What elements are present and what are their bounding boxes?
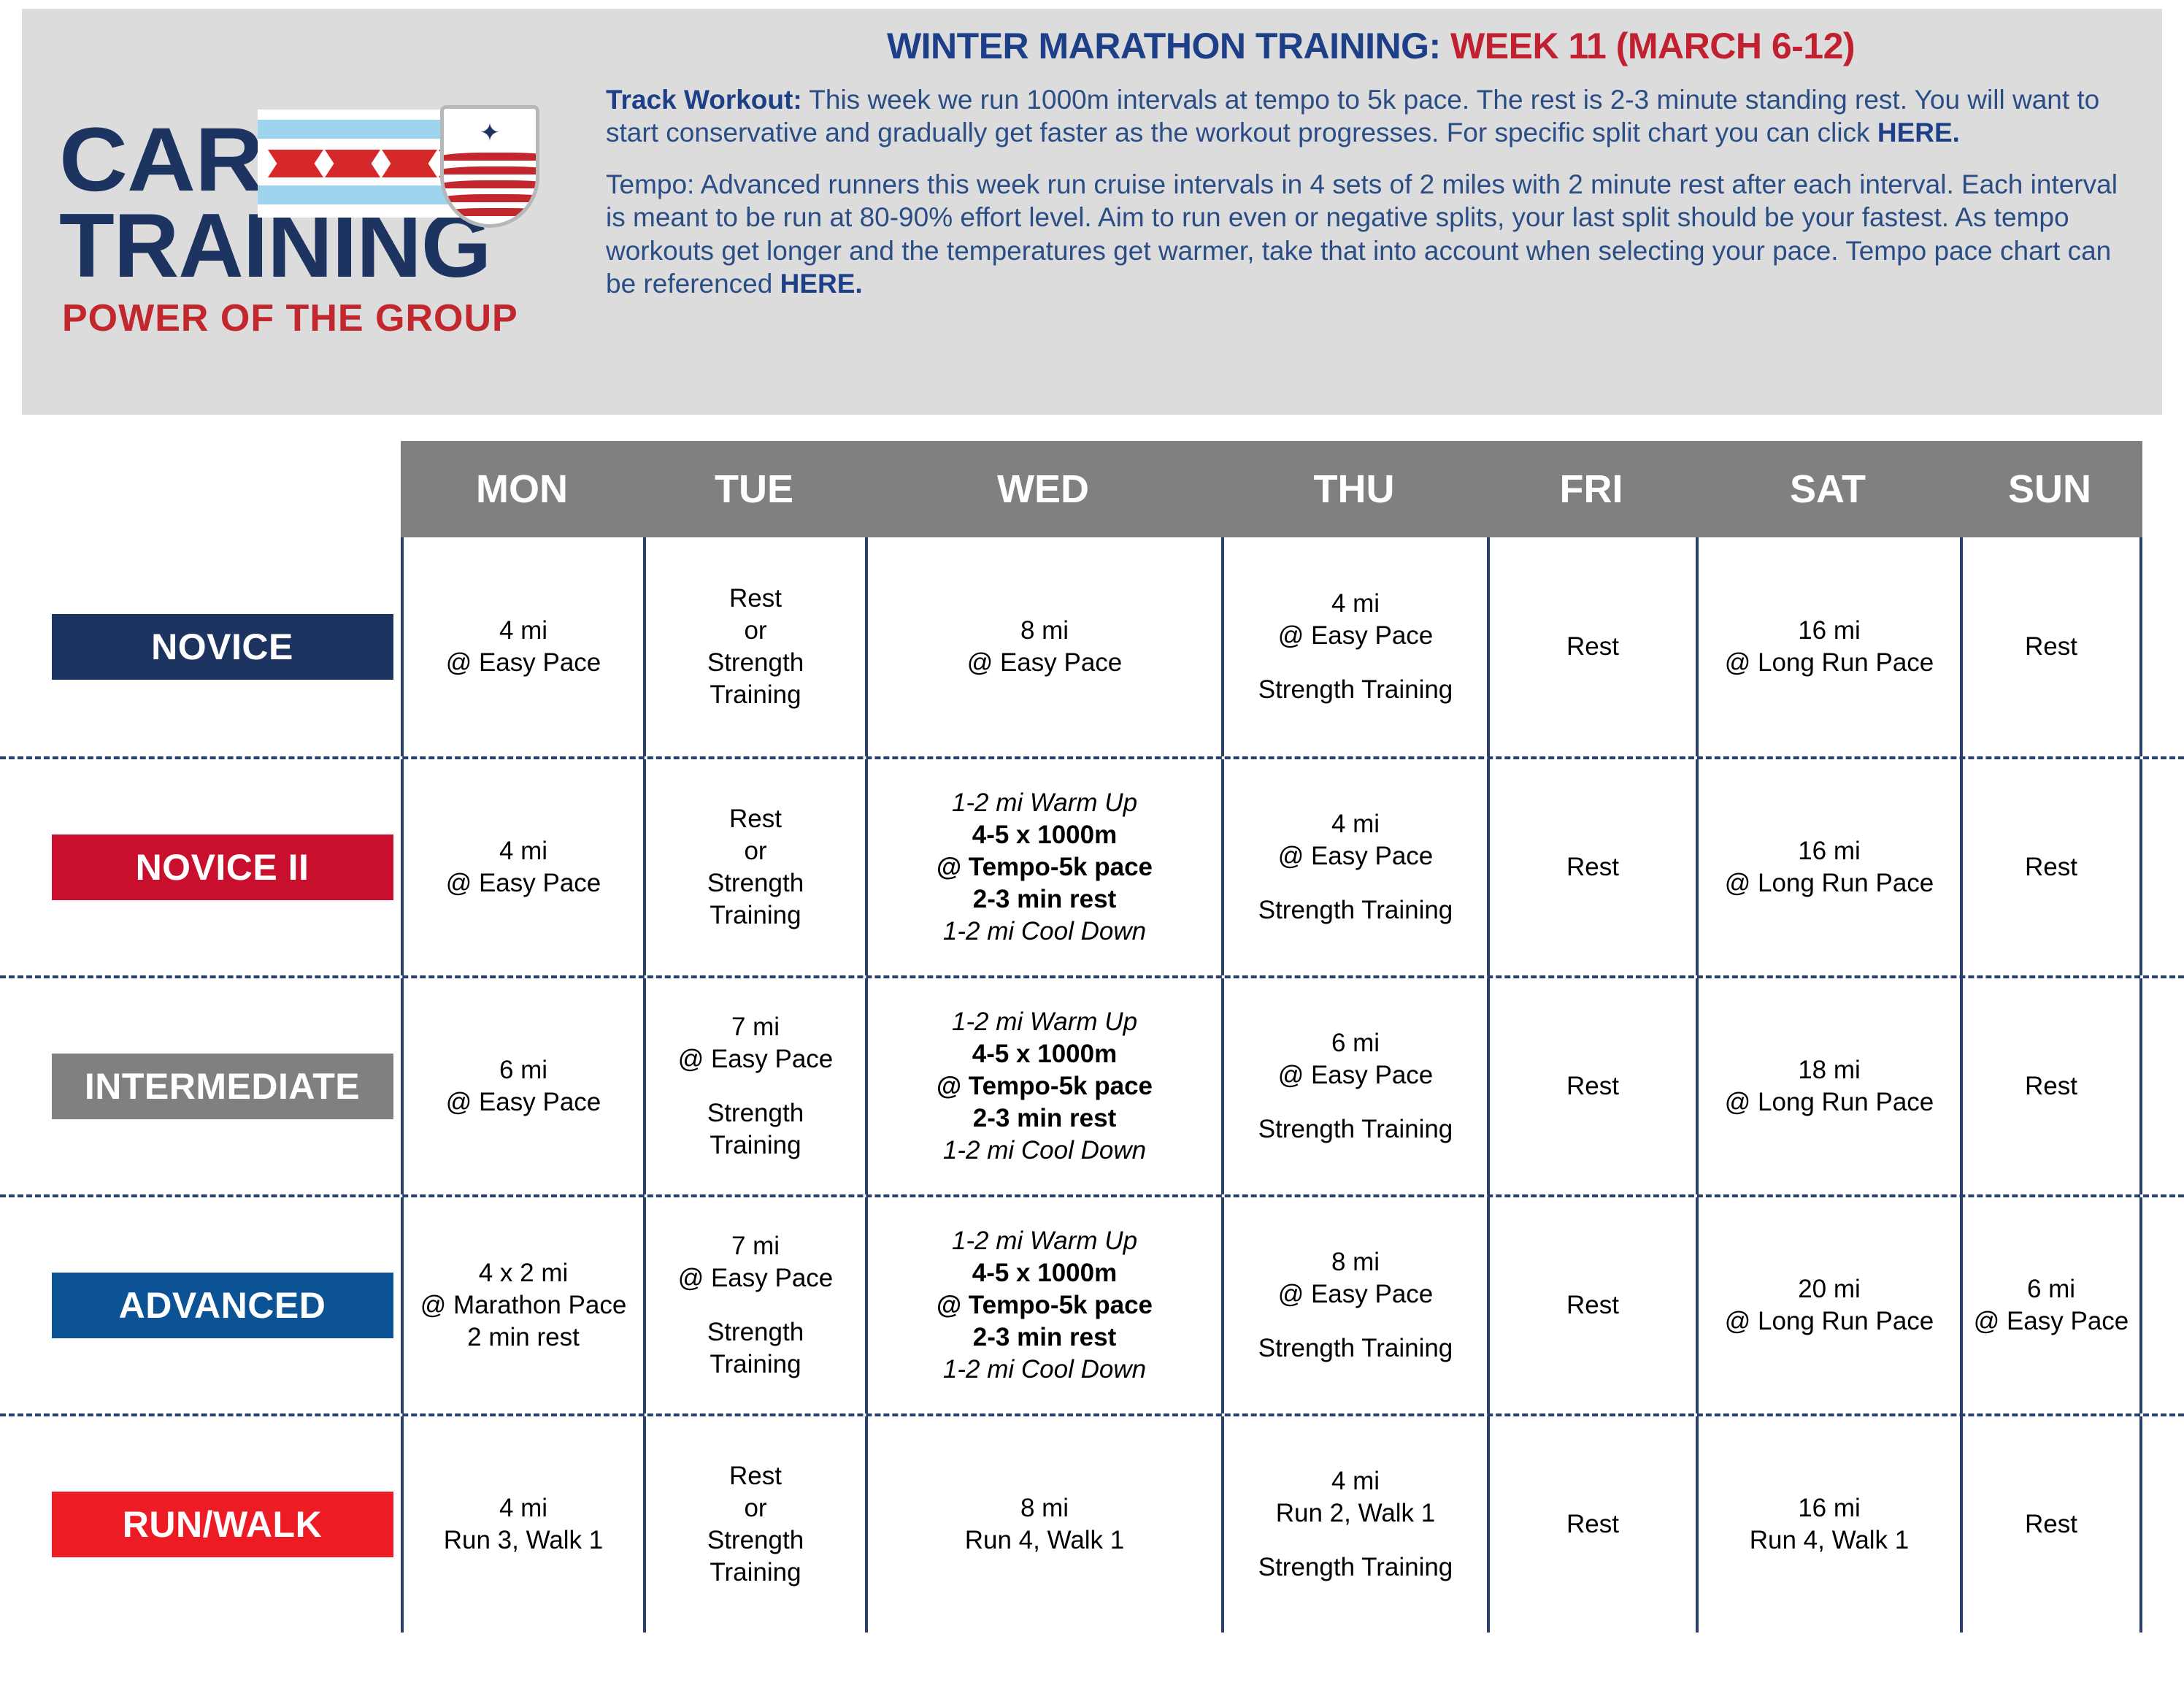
workout-line: Strength [707,1097,804,1129]
workout-cell-sun: Rest [1963,1416,2142,1633]
workout-line: 4 mi [1331,588,1380,620]
day-header-wed: WED [865,441,1221,537]
page-title-week: WEEK 11 (MARCH 6-12) [1441,26,1855,66]
day-cells: 4 mi@ Easy PaceRestorStrengthTraining8 m… [401,537,2184,756]
workout-cell-fri: Rest [1490,759,1699,975]
workout-line: Rest [729,583,782,615]
workout-line: @ Easy Pace [446,647,601,679]
workout-line: 2 min rest [467,1321,580,1354]
workout-cell-sat: 18 mi@ Long Run Pace [1699,978,1963,1194]
workout-cell-mon: 4 mi@ Easy Pace [404,759,646,975]
workout-line: 4 mi [499,615,547,647]
workout-line: @ Easy Pace [678,1262,834,1294]
workout-line: Rest [1566,1508,1619,1541]
flag-star-icon [325,150,353,177]
day-header-sat: SAT [1696,441,1960,537]
workout-line: @ Long Run Pace [1725,867,1934,899]
workout-line: 2-3 min rest [973,1321,1116,1354]
workout-line: Run 3, Walk 1 [444,1524,604,1557]
page-title-primary: WINTER MARATHON TRAINING: [887,26,1441,66]
table-row: INTERMEDIATE6 mi@ Easy Pace7 mi@ Easy Pa… [0,975,2184,1194]
workout-line: Rest [2025,1508,2077,1541]
workout-line: Strength [707,867,804,899]
workout-cell-wed: 8 mi@ Easy Pace [868,537,1224,756]
day-header-mon: MON [401,441,643,537]
workout-line: 1-2 mi Warm Up [952,1006,1137,1038]
workout-line: 7 mi [731,1011,780,1043]
workout-line: 16 mi [1798,835,1861,867]
workout-cell-mon: 6 mi@ Easy Pace [404,978,646,1194]
workout-line: 1-2 mi Cool Down [943,916,1146,948]
page-title: WINTER MARATHON TRAINING: WEEK 11 (MARCH… [606,25,2136,67]
workout-line: Rest [2025,1070,2077,1102]
workout-line: Training [710,679,801,711]
workout-cell-sun: Rest [1963,759,2142,975]
workout-cell-fri: Rest [1490,537,1699,756]
workout-line: Run 4, Walk 1 [1750,1524,1910,1557]
workout-line: 1-2 mi Warm Up [952,787,1137,819]
workout-line: 4-5 x 1000m [972,819,1117,851]
workout-cell-sat: 16 mi@ Long Run Pace [1699,759,1963,975]
workout-line: Rest [729,1460,782,1492]
workout-cell-fri: Rest [1490,1416,1699,1633]
workout-cell-sat: 16 miRun 4, Walk 1 [1699,1416,1963,1633]
workout-line: @ Easy Pace [1278,620,1434,652]
level-label-cell: NOVICE [0,537,401,756]
logo-text-training: TRAINING [59,207,491,285]
workout-line: @ Easy Pace [678,1043,834,1075]
workout-line: 4-5 x 1000m [972,1257,1117,1289]
level-badge-intermediate: INTERMEDIATE [52,1054,393,1119]
workout-line: or [744,1492,766,1524]
workout-line: 4-5 x 1000m [972,1038,1117,1070]
workout-line: Training [710,899,801,932]
workout-line: @ Long Run Pace [1725,647,1934,679]
workout-line: 6 mi [499,1054,547,1086]
table-row: RUN/WALK4 miRun 3, Walk 1RestorStrengthT… [0,1413,2184,1633]
track-workout-paragraph: Track Workout: This week we run 1000m in… [606,83,2136,149]
workout-line: 16 mi [1798,1492,1861,1524]
workout-line: 4 mi [499,1492,547,1524]
level-badge-novice-ii: NOVICE II [52,835,393,900]
level-label-cell: ADVANCED [0,1197,401,1413]
workout-line: Strength Training [1258,1332,1453,1365]
workout-line: Training [710,1129,801,1162]
workout-line: or [744,615,766,647]
workout-line: Run 2, Walk 1 [1276,1497,1436,1530]
workout-line: @ Tempo-5k pace [937,1289,1153,1321]
workout-line: 16 mi [1798,615,1861,647]
workout-cell-thu: 6 mi@ Easy PaceStrength Training [1224,978,1490,1194]
level-label-cell: RUN/WALK [0,1416,401,1633]
tempo-link[interactable]: HERE. [780,269,863,299]
workout-line: 4 mi [1331,1465,1380,1497]
workout-cell-tue: RestorStrengthTraining [646,537,868,756]
level-badge-advanced: ADVANCED [52,1273,393,1338]
workout-cell-tue: 7 mi@ Easy PaceStrengthTraining [646,1197,868,1413]
workout-line: @ Long Run Pace [1725,1086,1934,1119]
workout-line: or [744,835,766,867]
workout-line: Training [710,1557,801,1589]
workout-cell-sun: Rest [1963,978,2142,1194]
day-header-row: MONTUEWEDTHUFRISATSUN [401,441,2142,537]
day-cells: 4 miRun 3, Walk 1RestorStrengthTraining8… [401,1416,2184,1633]
workout-line: 1-2 mi Cool Down [943,1135,1146,1167]
table-row: ADVANCED4 x 2 mi@ Marathon Pace2 min res… [0,1194,2184,1413]
workout-line: @ Long Run Pace [1725,1305,1934,1338]
level-label-cell: INTERMEDIATE [0,978,401,1194]
workout-line: Rest [2025,851,2077,883]
day-header-fri: FRI [1487,441,1696,537]
schedule-rows: NOVICE4 mi@ Easy PaceRestorStrengthTrain… [0,537,2184,1633]
workout-line: Strength [707,1524,804,1557]
level-badge-novice: NOVICE [52,614,393,680]
workout-line: Training [710,1349,801,1381]
workout-line: 18 mi [1798,1054,1861,1086]
table-row: NOVICE II4 mi@ Easy PaceRestorStrengthTr… [0,756,2184,975]
workout-cell-wed: 1-2 mi Warm Up4-5 x 1000m@ Tempo-5k pace… [868,1197,1224,1413]
track-workout-link[interactable]: HERE. [1877,118,1960,147]
workout-line: 2-3 min rest [973,1102,1116,1135]
workout-cell-fri: Rest [1490,978,1699,1194]
workout-cell-tue: 7 mi@ Easy PaceStrengthTraining [646,978,868,1194]
workout-cell-thu: 4 mi@ Easy PaceStrength Training [1224,537,1490,756]
workout-line: 4 mi [1331,808,1380,840]
workout-cell-thu: 4 mi@ Easy PaceStrength Training [1224,759,1490,975]
workout-line: 4 x 2 mi [479,1257,569,1289]
workout-line: 4 mi [499,835,547,867]
workout-cell-sun: Rest [1963,537,2142,756]
workout-line: 8 mi [1020,615,1069,647]
workout-cell-wed: 1-2 mi Warm Up4-5 x 1000m@ Tempo-5k pace… [868,978,1224,1194]
workout-line: 8 mi [1331,1246,1380,1278]
level-badge-run-walk: RUN/WALK [52,1492,393,1557]
workout-line: @ Easy Pace [1278,1278,1434,1311]
workout-line: Strength Training [1258,674,1453,706]
workout-cell-thu: 4 miRun 2, Walk 1Strength Training [1224,1416,1490,1633]
shield-icon: ✦ [440,105,539,228]
workout-cell-mon: 4 miRun 3, Walk 1 [404,1416,646,1633]
workout-cell-sun: 6 mi@ Easy Pace [1963,1197,2142,1413]
workout-line: Strength Training [1258,1551,1453,1584]
workout-line: 7 mi [731,1230,780,1262]
workout-line: @ Marathon Pace [420,1289,627,1321]
day-header-sun: SUN [1960,441,2139,537]
workout-cell-wed: 1-2 mi Warm Up4-5 x 1000m@ Tempo-5k pace… [868,759,1224,975]
day-cells: 4 mi@ Easy PaceRestorStrengthTraining1-2… [401,759,2184,975]
flag-star-icon [382,150,409,177]
workout-cell-mon: 4 x 2 mi@ Marathon Pace2 min rest [404,1197,646,1413]
track-workout-body: This week we run 1000m intervals at temp… [606,85,2099,147]
day-header-thu: THU [1221,441,1487,537]
workout-line: 1-2 mi Cool Down [943,1354,1146,1386]
workout-line: Rest [1566,631,1619,663]
workout-line: 6 mi [1331,1027,1380,1059]
workout-line: 20 mi [1798,1273,1861,1305]
workout-line: Rest [1566,1289,1619,1321]
workout-line: @ Easy Pace [1974,1305,2129,1338]
header-text-block: WINTER MARATHON TRAINING: WEEK 11 (MARCH… [599,9,2162,319]
flag-star-icon [268,150,296,177]
workout-line: Strength [707,647,804,679]
workout-line: 6 mi [2027,1273,2075,1305]
workout-cell-sat: 20 mi@ Long Run Pace [1699,1197,1963,1413]
level-label-cell: NOVICE II [0,759,401,975]
workout-line: @ Tempo-5k pace [937,851,1153,883]
workout-line: Run 4, Walk 1 [965,1524,1125,1557]
day-cells: 6 mi@ Easy Pace7 mi@ Easy PaceStrengthTr… [401,978,2184,1194]
track-workout-label: Track Workout: [606,85,802,115]
workout-line: 2-3 min rest [973,883,1116,916]
workout-line: @ Easy Pace [1278,840,1434,872]
logo-tagline: POWER OF THE GROUP [62,296,518,340]
workout-line: Strength Training [1258,894,1453,927]
workout-line: @ Easy Pace [446,867,601,899]
cara-logo: CARA TRAINING POWER OF THE GROUP ✦ [22,9,599,415]
workout-line: Rest [1566,1070,1619,1102]
workout-line: Rest [2025,631,2077,663]
tempo-paragraph: Tempo: Advanced runners this week run cr… [606,168,2136,300]
workout-line: Strength Training [1258,1113,1453,1146]
header-banner: CARA TRAINING POWER OF THE GROUP ✦ [22,9,2162,415]
workout-line: 8 mi [1020,1492,1069,1524]
workout-cell-sat: 16 mi@ Long Run Pace [1699,537,1963,756]
workout-cell-fri: Rest [1490,1197,1699,1413]
workout-cell-wed: 8 miRun 4, Walk 1 [868,1416,1224,1633]
training-schedule-page: CARA TRAINING POWER OF THE GROUP ✦ [0,0,2184,1688]
workout-line: @ Easy Pace [967,647,1123,679]
workout-line: @ Easy Pace [1278,1059,1434,1092]
workout-line: Rest [729,803,782,835]
day-cells: 4 x 2 mi@ Marathon Pace2 min rest7 mi@ E… [401,1197,2184,1413]
table-row: NOVICE4 mi@ Easy PaceRestorStrengthTrain… [0,537,2184,756]
workout-cell-tue: RestorStrengthTraining [646,1416,868,1633]
workout-line: Rest [1566,851,1619,883]
workout-cell-mon: 4 mi@ Easy Pace [404,537,646,756]
day-header-tue: TUE [643,441,865,537]
workout-cell-thu: 8 mi@ Easy PaceStrength Training [1224,1197,1490,1413]
workout-line: Strength [707,1316,804,1349]
workout-line: 1-2 mi Warm Up [952,1225,1137,1257]
workout-line: @ Tempo-5k pace [937,1070,1153,1102]
workout-cell-tue: RestorStrengthTraining [646,759,868,975]
workout-line: @ Easy Pace [446,1086,601,1119]
